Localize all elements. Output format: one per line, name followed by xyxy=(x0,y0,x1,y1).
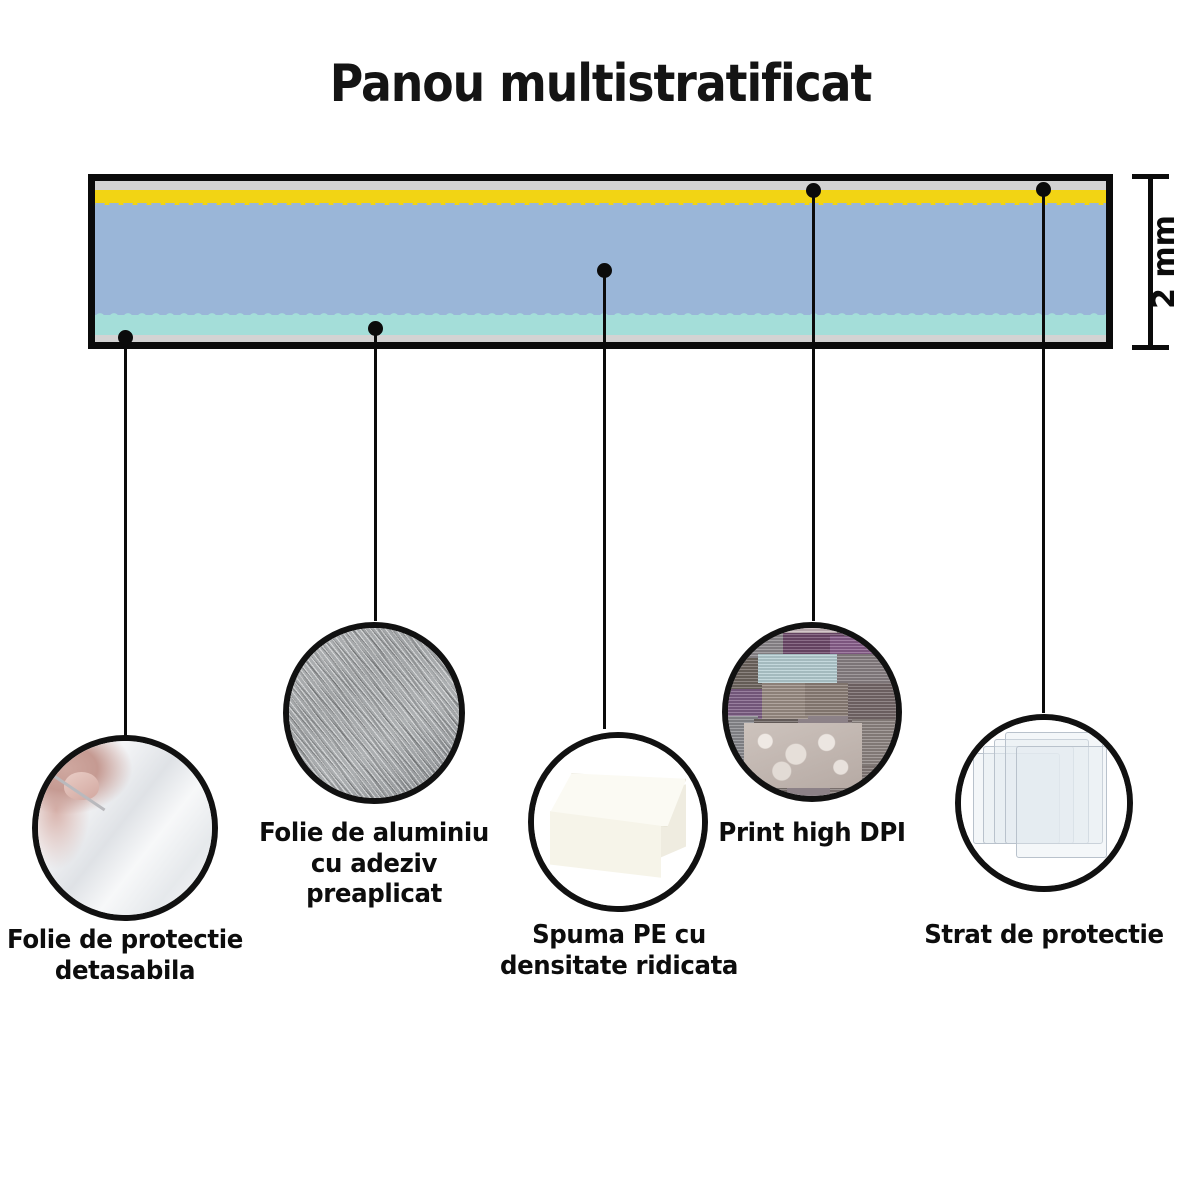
callout-label-aluminium-foil: Folie de aluminiu cu adeziv preaplicat xyxy=(244,818,503,910)
panel-layer-protective-film xyxy=(95,181,1106,190)
clear-sheets-photo-icon xyxy=(955,714,1133,892)
callout-label-pe-foam: Spuma PE cu densitate ridicata xyxy=(498,920,741,981)
callout-label-peel-film: Folie de protectie detasabila xyxy=(0,925,250,986)
thickness-label: 2 mm xyxy=(1146,174,1182,350)
panel-layer-high-dpi-print xyxy=(95,315,1106,335)
callout-label-line2: cu adeziv preaplicat xyxy=(244,849,503,910)
leader-line-peel-film xyxy=(124,337,127,737)
callout-label-line1: Folie de protectie xyxy=(0,925,250,956)
callout-label-protective-coating: Strat de protectie xyxy=(918,920,1170,951)
wood-patchwork-photo-icon xyxy=(722,622,902,802)
callout-label-high-dpi-print: Print high DPI xyxy=(707,818,918,849)
layered-panel-cross-section xyxy=(88,174,1113,349)
callout-label-line2: densitate ridicata xyxy=(498,951,741,982)
callout-label-line2: detasabila xyxy=(0,956,250,987)
panel-layer-protective-coating xyxy=(95,335,1106,345)
leader-line-high-dpi-print xyxy=(812,190,815,621)
panel-layer-pe-foam-core xyxy=(95,205,1106,315)
callout-label-line1: Print high DPI xyxy=(707,818,918,849)
callout-label-line1: Spuma PE cu xyxy=(498,920,741,951)
leader-line-aluminium-foil xyxy=(374,328,377,621)
brushed-aluminium-photo-icon xyxy=(283,622,465,804)
page-title: Panou multistratificat xyxy=(72,54,1129,114)
callout-label-line1: Strat de protectie xyxy=(918,920,1170,951)
callout-label-line1: Folie de aluminiu xyxy=(244,818,503,849)
leader-line-protective-coating xyxy=(1042,189,1045,713)
peel-film-photo-icon xyxy=(32,735,218,921)
foam-block-photo-icon xyxy=(528,732,708,912)
infographic-canvas: Panou multistratificat 2 mm xyxy=(0,0,1201,1200)
leader-line-pe-foam xyxy=(603,270,606,729)
